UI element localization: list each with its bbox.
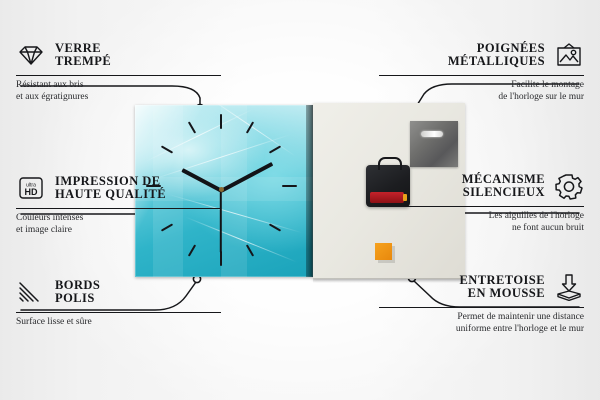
feature-description: Les aiguilles de l'horloge ne font aucun… <box>379 211 584 234</box>
hour-mark-3 <box>282 185 297 187</box>
ultra-hd-icon: ultra HD <box>16 173 46 203</box>
mechanism-hook <box>378 157 402 170</box>
feature-header: VERRE TREMPÉ <box>16 40 221 70</box>
feature-divider <box>379 75 584 76</box>
feature-header: ENTRETOISE EN MOUSSE <box>379 272 584 302</box>
diamond-icon <box>16 40 46 70</box>
feature-header: BORDS POLIS <box>16 277 221 307</box>
feature-description: Surface lisse et sûre <box>16 317 221 329</box>
gear-icon <box>554 171 584 201</box>
infographic-canvas: VERRE TREMPÉ Résistant aux bris et aux é… <box>0 0 600 400</box>
feature-title: POIGNÉES MÉTALLIQUES <box>448 42 545 69</box>
feature-description: Permet de maintenir une distance uniform… <box>379 312 584 335</box>
feature-divider <box>379 307 584 308</box>
metal-hanger-plate <box>410 121 458 167</box>
feature-divider <box>16 312 221 313</box>
feature-verre-trempe: VERRE TREMPÉ Résistant aux bris et aux é… <box>16 40 221 103</box>
feature-entretoise-en-mousse: ENTRETOISE EN MOUSSE Permet de maintenir… <box>379 272 584 335</box>
foam-spacer-pad <box>375 243 392 260</box>
feature-divider <box>16 208 221 209</box>
feature-title: BORDS POLIS <box>55 279 100 306</box>
feature-divider <box>379 206 584 207</box>
feature-poignees-metalliques: POIGNÉES MÉTALLIQUES Facilite le montage… <box>379 40 584 103</box>
feature-title: ENTRETOISE EN MOUSSE <box>459 274 545 301</box>
feature-title: IMPRESSION DE HAUTE QUALITÉ <box>55 175 166 202</box>
hour-mark-12 <box>220 114 222 129</box>
feature-mecanisme-silencieux: MÉCANISME SILENCIEUX Les aiguilles de l'… <box>379 171 584 234</box>
hanger-slot <box>421 131 443 137</box>
feature-header: POIGNÉES MÉTALLIQUES <box>379 40 584 70</box>
hour-mark-6 <box>220 251 222 266</box>
feature-description: Résistant aux bris et aux égratignures <box>16 80 221 103</box>
feature-header: ultra HD IMPRESSION DE HAUTE QUALITÉ <box>16 173 221 203</box>
feature-impression-haute-qualite: ultra HD IMPRESSION DE HAUTE QUALITÉ Cou… <box>16 173 221 236</box>
feature-divider <box>16 75 221 76</box>
svg-text:HD: HD <box>25 187 38 197</box>
picture-frame-hanger-icon <box>554 40 584 70</box>
hour-mark-2 <box>269 145 281 153</box>
polished-edge-icon <box>16 277 46 307</box>
hour-mark-7 <box>188 244 196 256</box>
feature-title: VERRE TREMPÉ <box>55 42 111 69</box>
feature-header: MÉCANISME SILENCIEUX <box>379 171 584 201</box>
hour-mark-5 <box>246 244 254 256</box>
hour-mark-11 <box>188 121 196 133</box>
feature-description: Couleurs intenses et image claire <box>16 213 221 236</box>
foam-spacer-icon <box>554 272 584 302</box>
feature-description: Facilite le montage de l'horloge sur le … <box>379 80 584 103</box>
feature-title: MÉCANISME SILENCIEUX <box>462 173 545 200</box>
feature-bords-polis: BORDS POLIS Surface lisse et sûre <box>16 277 221 329</box>
